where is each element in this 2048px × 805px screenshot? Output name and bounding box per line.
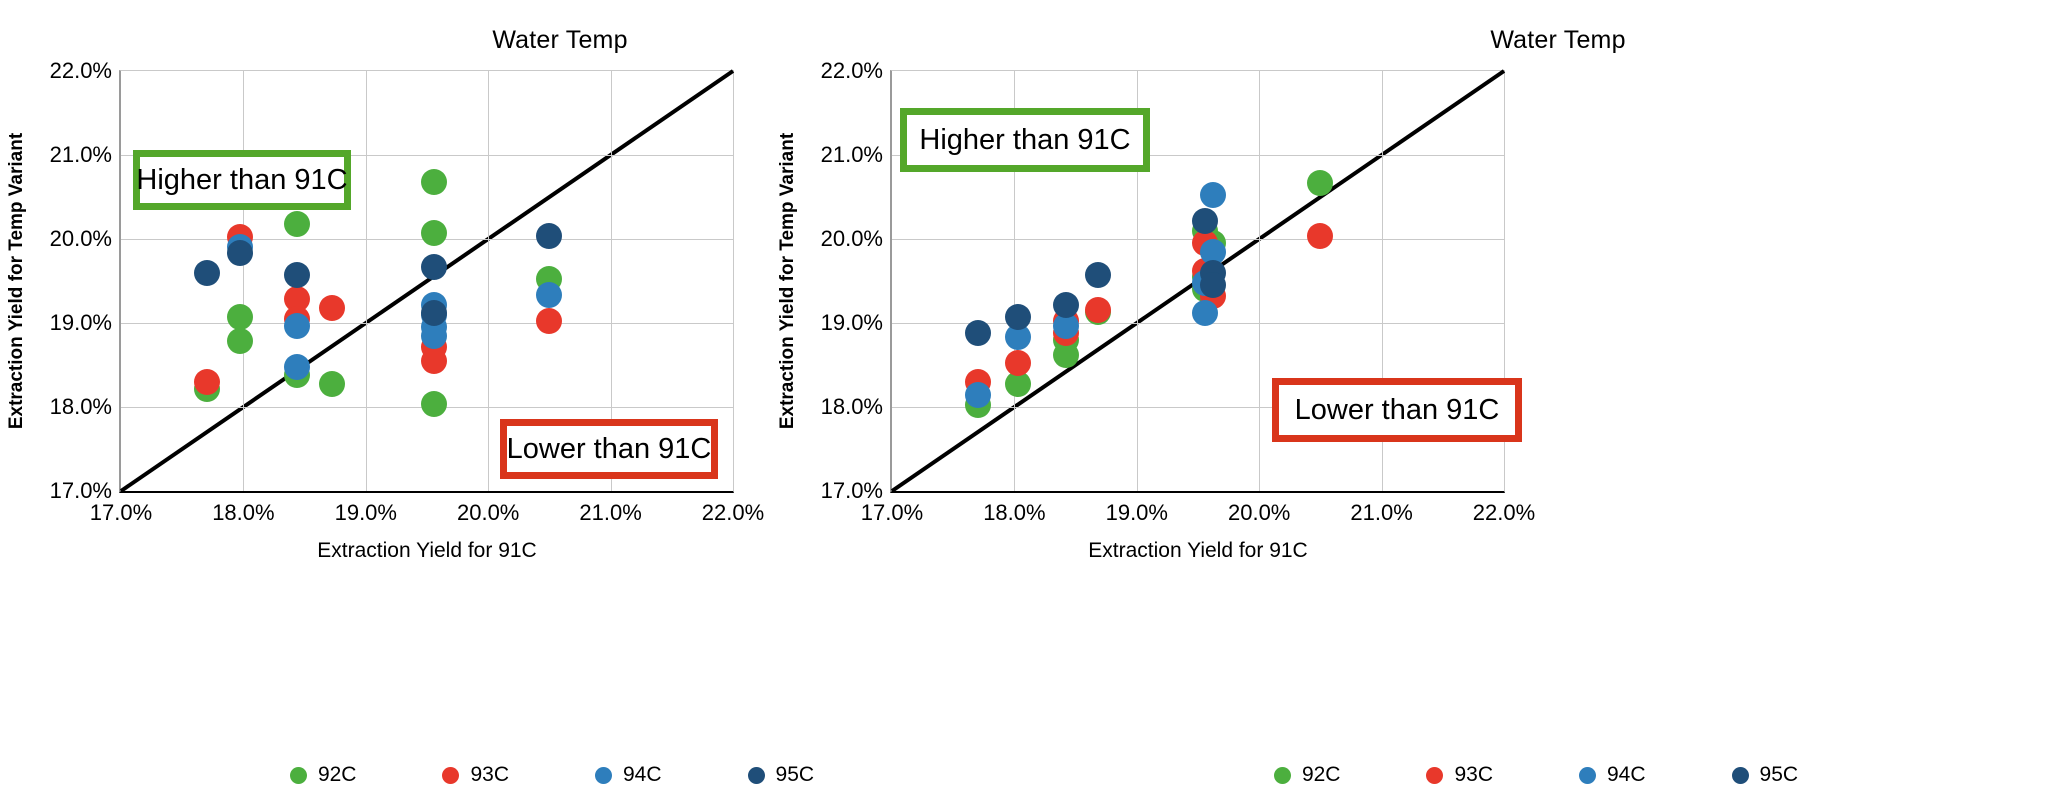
legend-marker-icon	[748, 767, 765, 784]
legend-label: 95C	[1760, 763, 1799, 787]
data-point-94c	[1192, 300, 1218, 326]
legend-item-94c[interactable]: 94C	[595, 763, 662, 787]
data-point-92c	[421, 169, 447, 195]
gridline-vertical	[488, 71, 489, 491]
data-point-92c	[421, 220, 447, 246]
data-point-93c	[536, 308, 562, 334]
data-point-95c	[1053, 292, 1079, 318]
x-axis-tick-label: 22.0%	[1473, 500, 1535, 526]
gridline-vertical	[243, 71, 244, 491]
data-point-95c	[227, 240, 253, 266]
callout-lower-label: Lower than 91C	[1295, 394, 1500, 427]
data-point-94c	[421, 323, 447, 349]
legend-label: 93C	[1454, 763, 1493, 787]
data-point-94c	[1200, 182, 1226, 208]
data-point-92c	[284, 211, 310, 237]
legend-item-95c[interactable]: 95C	[1732, 763, 1799, 787]
legend-left: 92C93C94C95C	[0, 763, 1064, 787]
legend-label: 92C	[318, 763, 357, 787]
legend-marker-icon	[1579, 767, 1596, 784]
x-axis-tick-label: 21.0%	[579, 500, 641, 526]
data-point-95c	[421, 254, 447, 280]
data-point-94c	[965, 382, 991, 408]
legend-label: 93C	[470, 763, 509, 787]
y-axis-tick-label: 18.0%	[50, 394, 112, 420]
legend-right: 92C93C94C95C	[1024, 763, 2048, 787]
data-point-94c	[284, 313, 310, 339]
data-point-95c	[1005, 304, 1031, 330]
data-point-95c	[965, 320, 991, 346]
data-point-95c	[421, 300, 447, 326]
y-axis-tick-label: 21.0%	[821, 142, 883, 168]
legend-marker-icon	[1732, 767, 1749, 784]
data-point-95c	[1200, 272, 1226, 298]
legend-label: 94C	[623, 763, 662, 787]
data-point-92c	[319, 371, 345, 397]
x-axis-tick-label: 19.0%	[335, 500, 397, 526]
callout-higher-label: Higher than 91C	[136, 164, 347, 197]
callout-higher-than-91c-left: Higher than 91C	[133, 150, 351, 210]
data-point-93c	[194, 369, 220, 395]
data-point-93c	[1005, 350, 1031, 376]
y-axis-title-right: Extraction Yield for Temp Variant	[777, 133, 799, 429]
x-axis-tick-label: 20.0%	[1228, 500, 1290, 526]
legend-marker-icon	[442, 767, 459, 784]
x-axis-tick-label: 19.0%	[1106, 500, 1168, 526]
chart-panel-right: Water Temp Extraction Yield for Temp Var…	[1024, 0, 2048, 805]
legend-marker-icon	[290, 767, 307, 784]
data-point-93c	[1307, 223, 1333, 249]
data-point-93c	[421, 348, 447, 374]
dual-scatter-board: Water Temp Extraction Yield for Temp Var…	[0, 0, 2048, 805]
chart-title-left: Water Temp	[0, 26, 1072, 55]
data-point-95c	[284, 262, 310, 288]
y-axis-title-left: Extraction Yield for Temp Variant	[6, 133, 28, 429]
data-point-95c	[194, 260, 220, 286]
x-axis-tick-label: 18.0%	[212, 500, 274, 526]
y-axis-tick-label: 22.0%	[821, 58, 883, 84]
y-axis-tick-label: 21.0%	[50, 142, 112, 168]
legend-item-94c[interactable]: 94C	[1579, 763, 1646, 787]
callout-higher-than-91c-right: Higher than 91C	[900, 108, 1150, 172]
data-point-95c	[1192, 208, 1218, 234]
data-point-92c	[1307, 170, 1333, 196]
x-axis-tick-label: 22.0%	[702, 500, 764, 526]
legend-item-93c[interactable]: 93C	[1426, 763, 1493, 787]
callout-lower-than-91c-right: Lower than 91C	[1272, 378, 1522, 442]
x-axis-tick-label: 17.0%	[861, 500, 923, 526]
y-axis-tick-label: 22.0%	[50, 58, 112, 84]
x-axis-tick-label: 21.0%	[1350, 500, 1412, 526]
data-point-92c	[421, 391, 447, 417]
x-axis-tick-label: 18.0%	[983, 500, 1045, 526]
legend-item-92c[interactable]: 92C	[1274, 763, 1341, 787]
y-axis-tick-label: 20.0%	[821, 226, 883, 252]
legend-item-93c[interactable]: 93C	[442, 763, 509, 787]
legend-marker-icon	[1426, 767, 1443, 784]
data-point-92c	[227, 328, 253, 354]
legend-label: 94C	[1607, 763, 1646, 787]
data-point-95c	[1085, 262, 1111, 288]
chart-title-right: Water Temp	[1024, 26, 2048, 55]
callout-lower-label: Lower than 91C	[507, 433, 712, 466]
y-axis-tick-label: 19.0%	[821, 310, 883, 336]
data-point-94c	[536, 282, 562, 308]
data-point-95c	[536, 223, 562, 249]
legend-label: 95C	[776, 763, 815, 787]
data-point-93c	[1085, 297, 1111, 323]
y-axis-tick-label: 18.0%	[821, 394, 883, 420]
callout-higher-label: Higher than 91C	[919, 124, 1130, 157]
legend-marker-icon	[595, 767, 612, 784]
x-axis-title-right: Extraction Yield for 91C	[1088, 539, 1307, 563]
legend-marker-icon	[1274, 767, 1291, 784]
x-axis-title-left: Extraction Yield for 91C	[317, 539, 536, 563]
gridline-vertical	[1259, 71, 1260, 491]
y-axis-tick-label: 20.0%	[50, 226, 112, 252]
gridline-vertical	[366, 71, 367, 491]
data-point-92c	[227, 304, 253, 330]
data-point-93c	[319, 295, 345, 321]
data-point-94c	[284, 354, 310, 380]
x-axis-tick-label: 17.0%	[90, 500, 152, 526]
legend-item-92c[interactable]: 92C	[290, 763, 357, 787]
x-axis-tick-label: 20.0%	[457, 500, 519, 526]
legend-label: 92C	[1302, 763, 1341, 787]
callout-lower-than-91c-left: Lower than 91C	[500, 419, 718, 479]
legend-item-95c[interactable]: 95C	[748, 763, 815, 787]
y-axis-tick-label: 19.0%	[50, 310, 112, 336]
